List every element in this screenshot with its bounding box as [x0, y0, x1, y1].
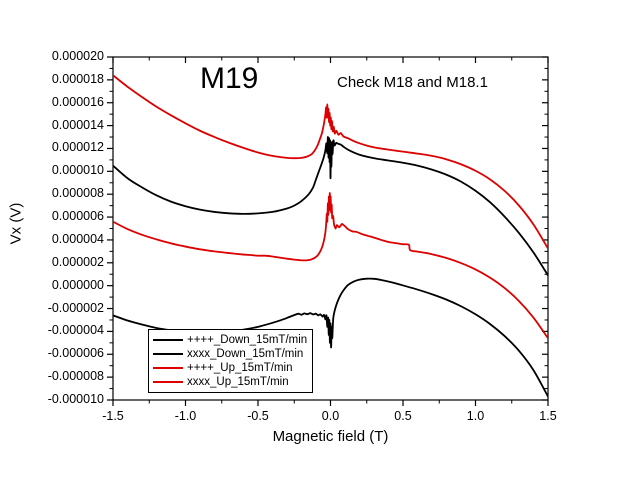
y-tick-label: 0.000010 [8, 163, 104, 177]
x-tick-label: -1.5 [83, 409, 143, 423]
y-tick-label: -0.000010 [8, 392, 104, 406]
legend-color-swatch [153, 367, 183, 369]
x-tick-label: 1.0 [446, 409, 506, 423]
chart-annotation: Check M18 and M18.1 [337, 74, 488, 91]
y-tick-label: 0.000006 [8, 209, 104, 223]
x-tick-label: -0.5 [228, 409, 288, 423]
y-tick-label: 0.000020 [8, 49, 104, 63]
legend-item[interactable]: ++++_Down_15mT/min [153, 333, 307, 347]
x-tick-label: 0.0 [301, 409, 361, 423]
y-tick-label: 0.000012 [8, 140, 104, 154]
legend-item-label: ++++_Up_15mT/min [187, 361, 292, 375]
y-tick-label: 0.000004 [8, 232, 104, 246]
y-tick-label: 0.000002 [8, 255, 104, 269]
y-tick-label: -0.000008 [8, 369, 104, 383]
y-tick-label: 0.000018 [8, 72, 104, 86]
legend-item-label: xxxx_Up_15mT/min [187, 375, 289, 389]
legend-item[interactable]: ++++_Up_15mT/min [153, 361, 307, 375]
y-tick-label: 0.000008 [8, 186, 104, 200]
y-tick-label: 0.000014 [8, 118, 104, 132]
y-tick-label: -0.000002 [8, 301, 104, 315]
x-tick-label: -1.0 [156, 409, 216, 423]
y-tick-label: 0.000000 [8, 278, 104, 292]
y-tick-label: 0.000016 [8, 95, 104, 109]
x-axis-label: Magnetic field (T) [113, 428, 548, 445]
legend-item[interactable]: xxxx_Up_15mT/min [153, 375, 307, 389]
legend-item[interactable]: xxxx_Down_15mT/min [153, 347, 307, 361]
chart-title: M19 [200, 62, 258, 96]
legend: ++++_Down_15mT/minxxxx_Down_15mT/min++++… [148, 329, 313, 393]
legend-color-swatch [153, 353, 183, 355]
y-tick-label: -0.000006 [8, 346, 104, 360]
legend-item-label: xxxx_Down_15mT/min [187, 347, 303, 361]
legend-item-label: ++++_Down_15mT/min [187, 333, 307, 347]
legend-color-swatch [153, 381, 183, 383]
x-tick-label: 1.5 [518, 409, 578, 423]
x-tick-label: 0.5 [373, 409, 433, 423]
y-tick-label: -0.000004 [8, 323, 104, 337]
legend-color-swatch [153, 339, 183, 341]
